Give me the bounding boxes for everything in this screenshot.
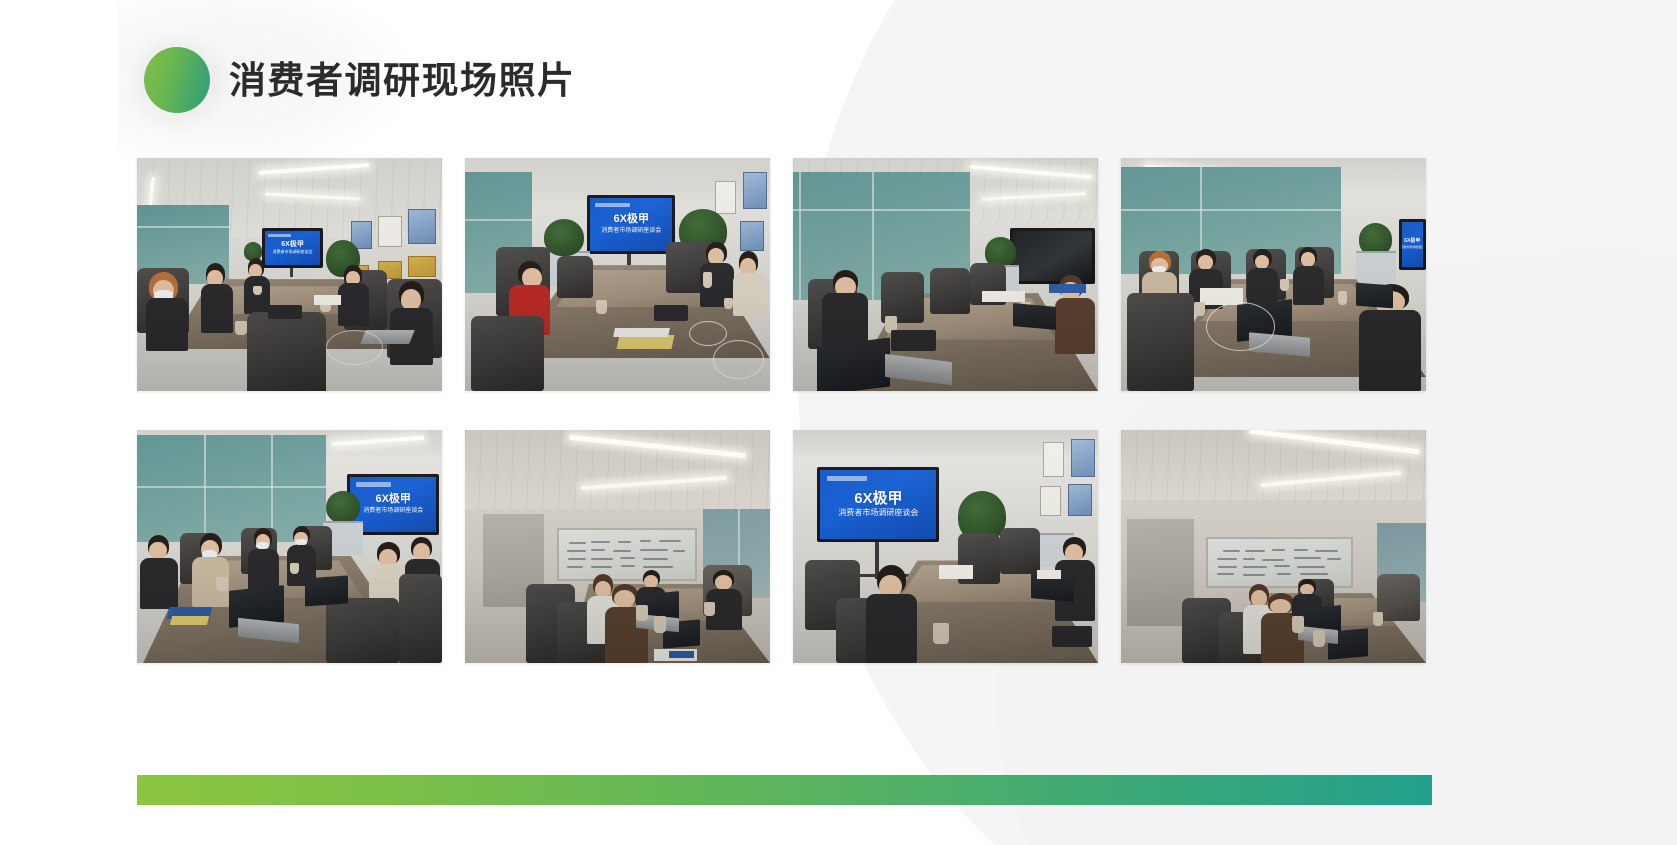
photo-5-screen: 6X极甲 消费者市场调研座谈会 bbox=[350, 477, 436, 532]
gallery-photo-6[interactable] bbox=[465, 430, 770, 663]
gallery-photo-2[interactable]: 6X极甲 消费者市场调研座谈会 bbox=[465, 158, 770, 391]
gallery-photo-4[interactable]: 6X极甲 消费者市场调研座谈会 bbox=[1121, 158, 1426, 391]
photo-gallery-grid: 6X极甲 消费者市场调研座谈会 bbox=[137, 158, 1437, 663]
header-bullet-wrap bbox=[137, 40, 217, 120]
gallery-photo-7[interactable]: 6X极甲 消费者市场调研座谈会 bbox=[793, 430, 1098, 663]
footer-gradient-bar bbox=[137, 775, 1432, 805]
photo-3-screen bbox=[1013, 231, 1092, 281]
slide-header: 消费者调研现场照片 bbox=[137, 40, 576, 120]
slide-canvas: 消费者调研现场照片 bbox=[0, 0, 1677, 845]
green-circle-icon bbox=[144, 47, 210, 113]
page-title: 消费者调研现场照片 bbox=[229, 62, 576, 99]
gallery-photo-8[interactable] bbox=[1121, 430, 1426, 663]
photo-4-screen: 6X极甲 消费者市场调研座谈会 bbox=[1402, 222, 1423, 267]
photo-7-screen: 6X极甲 消费者市场调研座谈会 bbox=[820, 470, 936, 539]
photo-2-screen: 6X极甲 消费者市场调研座谈会 bbox=[590, 198, 672, 250]
gallery-photo-5[interactable]: 6X极甲 消费者市场调研座谈会 bbox=[137, 430, 442, 663]
gallery-photo-3[interactable] bbox=[793, 158, 1098, 391]
gallery-photo-1[interactable]: 6X极甲 消费者市场调研座谈会 bbox=[137, 158, 442, 391]
